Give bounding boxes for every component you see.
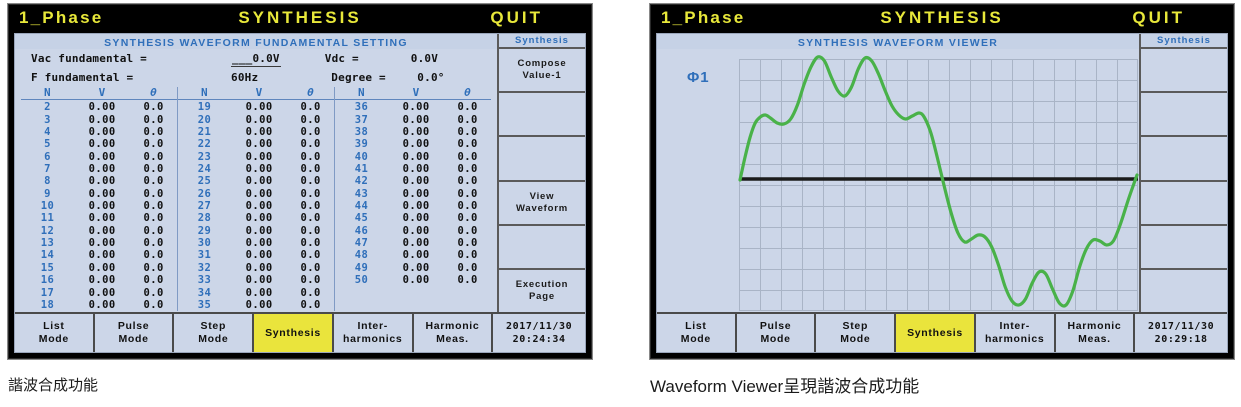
caption-left: 諧波合成功能 <box>8 374 98 395</box>
harmonic-voltage[interactable]: 0.00 <box>388 249 444 261</box>
harmonic-order: 39 <box>335 138 388 150</box>
harmonic-header-row: NVθ <box>335 87 491 100</box>
harmonic-voltage[interactable]: 0.00 <box>74 237 130 249</box>
harmonic-row[interactable]: 100.000.0 <box>21 200 177 212</box>
harmonic-order: 45 <box>335 212 388 224</box>
harmonic-order: 10 <box>21 200 74 212</box>
bottom-button-harmonic-meas[interactable]: Harmonic Meas. <box>414 314 494 352</box>
harmonic-row[interactable]: 400.000.0 <box>335 151 491 163</box>
lcd-body-left: SYNTHESIS WAVEFORM FUNDAMENTAL SETTING V… <box>15 34 585 312</box>
header-n: N <box>21 87 74 99</box>
harmonic-order: 30 <box>178 237 231 249</box>
harmonic-row[interactable]: 140.000.0 <box>21 249 177 261</box>
softkey-blank-2[interactable] <box>499 93 585 137</box>
harmonic-order: 35 <box>178 299 231 311</box>
harmonic-voltage[interactable]: 0.00 <box>74 188 130 200</box>
harmonic-order: 40 <box>335 151 388 163</box>
harmonic-voltage[interactable]: 0.00 <box>74 126 130 138</box>
harmonic-row[interactable]: 20.000.0 <box>21 101 177 113</box>
harmonic-order: 24 <box>178 163 231 175</box>
harmonic-order: 22 <box>178 138 231 150</box>
harmonic-row[interactable]: 350.000.0 <box>178 299 334 311</box>
harmonic-phase[interactable]: 0.0 <box>444 249 491 261</box>
harmonic-phase[interactable]: 0.0 <box>444 200 491 212</box>
harmonic-voltage[interactable]: 0.00 <box>231 237 287 249</box>
vac-fundamental-row: Vac fundamental =___0.0VVdc =0.0V <box>15 49 497 68</box>
waveform-svg <box>739 59 1138 311</box>
harmonic-order: 15 <box>21 262 74 274</box>
harmonic-voltage[interactable]: 0.00 <box>231 249 287 261</box>
harmonic-order: 42 <box>335 175 388 187</box>
harmonic-row[interactable]: 300.000.0 <box>178 237 334 249</box>
softkey-right-6[interactable] <box>1141 270 1227 312</box>
harmonic-voltage[interactable]: 0.00 <box>388 151 444 163</box>
bottom-button-step-mode-right[interactable]: Step Mode <box>816 314 896 352</box>
degree-value[interactable]: 0.0° <box>417 71 444 84</box>
harmonic-voltage[interactable]: 0.00 <box>74 287 130 299</box>
harmonic-phase[interactable]: 0.0 <box>287 175 334 187</box>
harmonic-voltage[interactable]: 0.00 <box>388 274 444 286</box>
harmonic-phase[interactable]: 0.0 <box>287 126 334 138</box>
harmonic-row[interactable]: 30.000.0 <box>21 114 177 126</box>
vdc-label: Vdc = <box>325 51 411 66</box>
harmonic-phase[interactable]: 0.0 <box>444 212 491 224</box>
header-v: V <box>231 87 287 99</box>
harmonic-row[interactable]: 220.000.0 <box>178 138 334 150</box>
header-theta: θ <box>130 87 177 99</box>
harmonic-phase[interactable]: 0.0 <box>287 299 334 311</box>
harmonic-row[interactable]: 490.000.0 <box>335 262 491 274</box>
harmonic-order: 37 <box>335 114 388 126</box>
harmonic-phase[interactable]: 0.0 <box>130 114 177 126</box>
clock-display-right: 2017/11/30 20:29:18 <box>1135 314 1227 352</box>
harmonic-phase[interactable]: 0.0 <box>287 138 334 150</box>
harmonic-row[interactable]: 240.000.0 <box>178 163 334 175</box>
harmonic-row[interactable]: 40.000.0 <box>21 126 177 138</box>
harmonic-phase[interactable]: 0.0 <box>130 274 177 286</box>
harmonic-row[interactable]: 120.000.0 <box>21 225 177 237</box>
harmonic-order: 19 <box>178 101 231 113</box>
harmonic-phase[interactable]: 0.0 <box>287 287 334 299</box>
harmonic-voltage[interactable]: 0.00 <box>74 138 130 150</box>
harmonic-phase[interactable]: 0.0 <box>130 188 177 200</box>
harmonic-phase[interactable]: 0.0 <box>130 237 177 249</box>
harmonic-row[interactable]: 290.000.0 <box>178 225 334 237</box>
instrument-panel-waveform-viewer: 1_Phase SYNTHESIS QUIT SYNTHESIS WAVEFOR… <box>650 4 1234 359</box>
harmonic-order: 28 <box>178 212 231 224</box>
harmonic-order: 25 <box>178 175 231 187</box>
harmonic-row[interactable]: 70.000.0 <box>21 163 177 175</box>
harmonic-voltage[interactable]: 0.00 <box>231 151 287 163</box>
harmonic-phase[interactable]: 0.0 <box>287 274 334 286</box>
harmonic-phase[interactable]: 0.0 <box>130 262 177 274</box>
harmonic-order: 20 <box>178 114 231 126</box>
harmonic-order: 14 <box>21 249 74 261</box>
harmonic-phase[interactable]: 0.0 <box>444 274 491 286</box>
harmonic-order: 50 <box>335 274 388 286</box>
harmonic-voltage[interactable]: 0.00 <box>74 249 130 261</box>
harmonic-voltage[interactable]: 0.00 <box>231 212 287 224</box>
quit-button-right[interactable]: QUIT <box>1132 8 1185 28</box>
harmonic-order: 33 <box>178 274 231 286</box>
lcd-screen-right: SYNTHESIS WAVEFORM VIEWER Φ1 Synthesis <box>656 33 1228 353</box>
harmonic-phase[interactable]: 0.0 <box>287 225 334 237</box>
page-root: 1_Phase SYNTHESIS QUIT SYNTHESIS WAVEFOR… <box>0 0 1241 407</box>
harmonic-phase[interactable]: 0.0 <box>287 237 334 249</box>
harmonic-voltage[interactable]: 0.00 <box>74 151 130 163</box>
harmonic-row[interactable]: 50.000.0 <box>21 138 177 150</box>
harmonic-row[interactable]: 320.000.0 <box>178 262 334 274</box>
harmonic-voltage[interactable]: 0.00 <box>388 114 444 126</box>
phase-1-label: Φ1 <box>687 69 710 86</box>
harmonic-row[interactable]: 430.000.0 <box>335 188 491 200</box>
harmonic-order: 6 <box>21 151 74 163</box>
softkey-right-2[interactable] <box>1141 93 1227 137</box>
vac-fundamental-input[interactable]: ___0.0V <box>231 51 281 67</box>
header-theta: θ <box>287 87 334 99</box>
harmonic-phase[interactable]: 0.0 <box>287 114 334 126</box>
harmonic-phase[interactable]: 0.0 <box>130 212 177 224</box>
bottom-function-bar-left: List Mode Pulse Mode Step Mode Synthesis… <box>15 312 585 352</box>
harmonic-voltage[interactable]: 0.00 <box>74 163 130 175</box>
harmonic-voltage[interactable]: 0.00 <box>231 225 287 237</box>
harmonic-voltage[interactable]: 0.00 <box>231 114 287 126</box>
harmonic-row[interactable]: 200.000.0 <box>178 114 334 126</box>
softkey-right-5[interactable] <box>1141 226 1227 270</box>
harmonic-column-1: NVθ20.000.030.000.040.000.050.000.060.00… <box>21 87 177 311</box>
quit-button[interactable]: QUIT <box>490 8 543 28</box>
harmonic-order: 2 <box>21 101 74 113</box>
titlebar-left: 1_Phase SYNTHESIS QUIT <box>9 5 591 31</box>
header-n: N <box>178 87 231 99</box>
harmonic-voltage[interactable]: 0.00 <box>74 212 130 224</box>
harmonic-phase[interactable]: 0.0 <box>130 138 177 150</box>
harmonic-phase[interactable]: 0.0 <box>130 101 177 113</box>
harmonic-order: 8 <box>21 175 74 187</box>
bottom-button-list-mode-right[interactable]: List Mode <box>657 314 737 352</box>
harmonic-row[interactable]: 250.000.0 <box>178 175 334 187</box>
harmonic-order: 9 <box>21 188 74 200</box>
softkey-right-3[interactable] <box>1141 137 1227 181</box>
harmonic-row[interactable]: 80.000.0 <box>21 175 177 187</box>
bottom-button-synthesis-right[interactable]: Synthesis <box>896 314 976 352</box>
harmonic-phase[interactable]: 0.0 <box>130 225 177 237</box>
harmonic-row[interactable]: 480.000.0 <box>335 249 491 261</box>
softkey-column-right: Synthesis <box>1139 34 1227 312</box>
harmonic-voltage[interactable]: 0.00 <box>231 299 287 311</box>
harmonic-order: 36 <box>335 101 388 113</box>
harmonic-voltage[interactable]: 0.00 <box>388 163 444 175</box>
harmonic-voltage[interactable]: 0.00 <box>388 237 444 249</box>
harmonic-phase[interactable]: 0.0 <box>287 249 334 261</box>
harmonic-voltage[interactable]: 0.00 <box>74 200 130 212</box>
harmonic-order: 27 <box>178 200 231 212</box>
harmonic-phase[interactable]: 0.0 <box>130 126 177 138</box>
bottom-function-bar-right: List Mode Pulse Mode Step Mode Synthesis… <box>657 312 1227 352</box>
harmonic-order: 49 <box>335 262 388 274</box>
bottom-button-synthesis[interactable]: Synthesis <box>254 314 334 352</box>
harmonic-phase[interactable]: 0.0 <box>287 188 334 200</box>
bottom-button-interharmonics-right[interactable]: Inter- harmonics <box>976 314 1056 352</box>
header-v: V <box>74 87 130 99</box>
harmonic-order: 32 <box>178 262 231 274</box>
harmonic-row[interactable]: 160.000.0 <box>21 274 177 286</box>
vac-fundamental-label: Vac fundamental = <box>31 51 231 66</box>
f-fundamental-row: F fundamental =60HzDegree =0.0° <box>15 68 497 86</box>
harmonic-order: 47 <box>335 237 388 249</box>
bottom-button-harmonic-meas-right[interactable]: Harmonic Meas. <box>1056 314 1136 352</box>
harmonic-order: 48 <box>335 249 388 261</box>
harmonic-row[interactable]: 450.000.0 <box>335 212 491 224</box>
harmonic-voltage[interactable]: 0.00 <box>388 200 444 212</box>
harmonic-order: 43 <box>335 188 388 200</box>
harmonic-phase[interactable]: 0.0 <box>287 163 334 175</box>
harmonic-column-3: NVθ360.000.0370.000.0380.000.0390.000.04… <box>334 87 491 311</box>
harmonic-phase[interactable]: 0.0 <box>444 138 491 150</box>
header-theta: θ <box>444 87 491 99</box>
harmonic-order: 44 <box>335 200 388 212</box>
harmonic-phase[interactable]: 0.0 <box>444 163 491 175</box>
harmonic-row[interactable]: 180.000.0 <box>21 299 177 311</box>
harmonic-order: 21 <box>178 126 231 138</box>
clock-display-left: 2017/11/30 20:24:34 <box>493 314 585 352</box>
harmonic-row[interactable]: 310.000.0 <box>178 249 334 261</box>
settings-content: SYNTHESIS WAVEFORM FUNDAMENTAL SETTING V… <box>15 34 497 312</box>
waveform-plot[interactable] <box>739 59 1138 311</box>
harmonic-voltage[interactable]: 0.00 <box>231 274 287 286</box>
harmonic-voltage[interactable]: 0.00 <box>74 274 130 286</box>
bottom-button-list-mode[interactable]: List Mode <box>15 314 95 352</box>
bottom-button-step-mode[interactable]: Step Mode <box>174 314 254 352</box>
softkey-compose-value-1[interactable]: Compose Value-1 <box>499 49 585 93</box>
synthesized-waveform-trace <box>740 57 1137 306</box>
harmonic-row[interactable]: 410.000.0 <box>335 163 491 175</box>
harmonic-phase[interactable]: 0.0 <box>444 101 491 113</box>
section-title-left: SYNTHESIS WAVEFORM FUNDAMENTAL SETTING <box>15 34 497 49</box>
harmonic-row[interactable]: 270.000.0 <box>178 200 334 212</box>
harmonic-voltage[interactable]: 0.00 <box>231 163 287 175</box>
harmonic-header-row: NVθ <box>178 87 334 100</box>
harmonic-voltage[interactable]: 0.00 <box>74 114 130 126</box>
harmonic-voltage[interactable]: 0.00 <box>231 126 287 138</box>
header-v: V <box>388 87 444 99</box>
harmonic-row[interactable]: 280.000.0 <box>178 212 334 224</box>
harmonic-phase[interactable]: 0.0 <box>130 299 177 311</box>
harmonic-phase[interactable]: 0.0 <box>130 200 177 212</box>
degree-label: Degree = <box>331 70 417 85</box>
harmonic-phase[interactable]: 0.0 <box>444 114 491 126</box>
harmonic-row[interactable]: 380.000.0 <box>335 126 491 138</box>
harmonic-voltage[interactable]: 0.00 <box>231 175 287 187</box>
harmonic-order: 38 <box>335 126 388 138</box>
harmonic-row[interactable]: 190.000.0 <box>178 101 334 113</box>
harmonic-phase[interactable]: 0.0 <box>444 225 491 237</box>
header-n: N <box>335 87 388 99</box>
harmonic-phase[interactable]: 0.0 <box>130 175 177 187</box>
harmonic-phase[interactable]: 0.0 <box>444 175 491 187</box>
softkey-right-1[interactable] <box>1141 49 1227 93</box>
harmonic-row[interactable]: 470.000.0 <box>335 237 491 249</box>
harmonic-order: 34 <box>178 287 231 299</box>
harmonic-row[interactable]: 90.000.0 <box>21 188 177 200</box>
harmonic-voltage[interactable]: 0.00 <box>74 175 130 187</box>
harmonic-phase[interactable]: 0.0 <box>287 212 334 224</box>
harmonic-voltage[interactable]: 0.00 <box>74 101 130 113</box>
harmonic-voltage[interactable]: 0.00 <box>231 101 287 113</box>
harmonic-phase[interactable]: 0.0 <box>287 101 334 113</box>
harmonic-order: 31 <box>178 249 231 261</box>
harmonic-row[interactable]: 210.000.0 <box>178 126 334 138</box>
harmonic-voltage[interactable]: 0.00 <box>74 225 130 237</box>
harmonic-voltage[interactable]: 0.00 <box>74 262 130 274</box>
bottom-button-interharmonics[interactable]: Inter- harmonics <box>334 314 414 352</box>
harmonic-order: 29 <box>178 225 231 237</box>
harmonic-row[interactable]: 170.000.0 <box>21 287 177 299</box>
harmonic-order: 3 <box>21 114 74 126</box>
softkey-blank-3[interactable] <box>499 137 585 181</box>
harmonic-phase[interactable]: 0.0 <box>287 151 334 163</box>
harmonic-row[interactable]: 460.000.0 <box>335 225 491 237</box>
harmonic-order: 17 <box>21 287 74 299</box>
softkey-execution-page[interactable]: Execution Page <box>499 270 585 312</box>
harmonic-order: 16 <box>21 274 74 286</box>
harmonic-voltage[interactable]: 0.00 <box>388 101 444 113</box>
harmonic-voltage[interactable]: 0.00 <box>388 262 444 274</box>
f-fundamental-label: F fundamental = <box>31 70 231 85</box>
harmonic-voltage[interactable]: 0.00 <box>231 262 287 274</box>
harmonic-voltage[interactable]: 0.00 <box>231 138 287 150</box>
harmonic-order: 41 <box>335 163 388 175</box>
harmonic-voltage[interactable]: 0.00 <box>231 188 287 200</box>
harmonic-header-row: NVθ <box>21 87 177 100</box>
harmonic-row[interactable]: 500.000.0 <box>335 274 491 286</box>
harmonic-voltage[interactable]: 0.00 <box>388 212 444 224</box>
instrument-panel-synthesis-settings: 1_Phase SYNTHESIS QUIT SYNTHESIS WAVEFOR… <box>8 4 592 359</box>
harmonic-voltage[interactable]: 0.00 <box>388 126 444 138</box>
bottom-button-pulse-mode[interactable]: Pulse Mode <box>95 314 175 352</box>
harmonic-voltage[interactable]: 0.00 <box>388 225 444 237</box>
section-title-right: SYNTHESIS WAVEFORM VIEWER <box>657 34 1139 49</box>
softkey-blank-5[interactable] <box>499 226 585 270</box>
titlebar-right: 1_Phase SYNTHESIS QUIT <box>651 5 1233 31</box>
harmonic-row[interactable]: 130.000.0 <box>21 237 177 249</box>
harmonic-row[interactable]: 150.000.0 <box>21 262 177 274</box>
softkey-view-waveform[interactable]: View Waveform <box>499 182 585 226</box>
softkey-header-left: Synthesis <box>499 34 585 49</box>
softkey-column-left: Synthesis Compose Value-1 View Waveform … <box>497 34 585 312</box>
harmonic-row[interactable]: 230.000.0 <box>178 151 334 163</box>
harmonic-voltage[interactable]: 0.00 <box>74 299 130 311</box>
harmonic-order: 23 <box>178 151 231 163</box>
harmonic-phase[interactable]: 0.0 <box>130 151 177 163</box>
harmonic-order: 4 <box>21 126 74 138</box>
harmonic-row[interactable]: 110.000.0 <box>21 212 177 224</box>
harmonic-phase[interactable]: 0.0 <box>444 126 491 138</box>
harmonic-row[interactable]: 440.000.0 <box>335 200 491 212</box>
harmonic-row[interactable]: 260.000.0 <box>178 188 334 200</box>
harmonic-order: 46 <box>335 225 388 237</box>
bottom-button-pulse-mode-right[interactable]: Pulse Mode <box>737 314 817 352</box>
lcd-body-right: SYNTHESIS WAVEFORM VIEWER Φ1 Synthesis <box>657 34 1227 312</box>
harmonic-row[interactable]: 330.000.0 <box>178 274 334 286</box>
harmonic-order: 26 <box>178 188 231 200</box>
vdc-value[interactable]: 0.0V <box>411 52 438 65</box>
softkey-header-right: Synthesis <box>1141 34 1227 49</box>
harmonic-order: 7 <box>21 163 74 175</box>
harmonic-order: 11 <box>21 212 74 224</box>
harmonic-phase[interactable]: 0.0 <box>444 188 491 200</box>
lcd-screen-left: SYNTHESIS WAVEFORM FUNDAMENTAL SETTING V… <box>14 33 586 353</box>
harmonic-order: 5 <box>21 138 74 150</box>
harmonic-phase[interactable]: 0.0 <box>287 200 334 212</box>
harmonic-column-2: NVθ190.000.0200.000.0210.000.0220.000.02… <box>177 87 334 311</box>
harmonic-table[interactable]: NVθ20.000.030.000.040.000.050.000.060.00… <box>15 86 497 311</box>
harmonic-voltage[interactable]: 0.00 <box>388 138 444 150</box>
harmonic-phase[interactable]: 0.0 <box>130 287 177 299</box>
harmonic-phase[interactable]: 0.0 <box>444 262 491 274</box>
harmonic-order: 12 <box>21 225 74 237</box>
harmonic-order: 18 <box>21 299 74 311</box>
viewer-content: SYNTHESIS WAVEFORM VIEWER Φ1 <box>657 34 1139 312</box>
harmonic-phase[interactable]: 0.0 <box>444 237 491 249</box>
harmonic-voltage[interactable]: 0.00 <box>388 188 444 200</box>
harmonic-row[interactable]: 60.000.0 <box>21 151 177 163</box>
harmonic-voltage[interactable]: 0.00 <box>231 200 287 212</box>
harmonic-phase[interactable]: 0.0 <box>130 249 177 261</box>
harmonic-voltage[interactable]: 0.00 <box>231 287 287 299</box>
harmonic-phase[interactable]: 0.0 <box>444 151 491 163</box>
harmonic-voltage[interactable]: 0.00 <box>388 175 444 187</box>
harmonic-phase[interactable]: 0.0 <box>287 262 334 274</box>
caption-right: Waveform Viewer呈現諧波合成功能 <box>650 372 919 397</box>
harmonic-order: 13 <box>21 237 74 249</box>
f-fundamental-value[interactable]: 60Hz <box>231 71 258 84</box>
harmonic-row[interactable]: 340.000.0 <box>178 287 334 299</box>
softkey-right-4[interactable] <box>1141 182 1227 226</box>
harmonic-phase[interactable]: 0.0 <box>130 163 177 175</box>
harmonic-row[interactable]: 420.000.0 <box>335 175 491 187</box>
harmonic-row[interactable]: 370.000.0 <box>335 114 491 126</box>
harmonic-row[interactable]: 390.000.0 <box>335 138 491 150</box>
harmonic-row[interactable]: 360.000.0 <box>335 101 491 113</box>
